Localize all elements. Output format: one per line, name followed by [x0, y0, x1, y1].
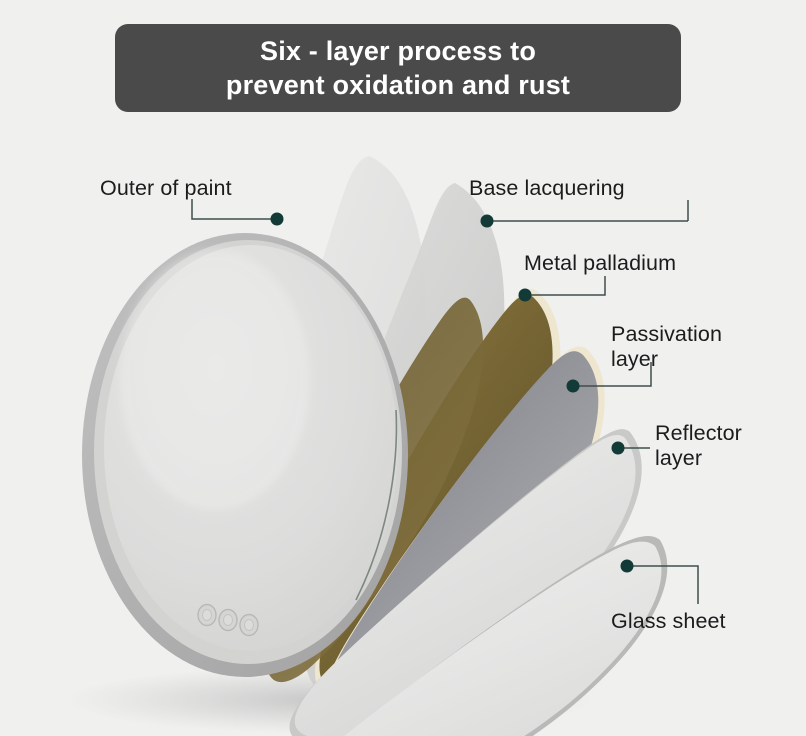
- leader-dot-glass-sheet: [621, 560, 634, 573]
- callout-label-outer-of-paint: Outer of paint: [100, 176, 232, 201]
- leader-dot-outer-of-paint: [271, 213, 284, 226]
- leader-base-lacquering: [481, 199, 689, 228]
- leader-outer-of-paint: [192, 199, 284, 226]
- led-mirror-panel: [82, 233, 408, 677]
- leader-dot-metal-palladium: [519, 289, 532, 302]
- leader-dot-passivation-layer: [567, 380, 580, 393]
- callout-label-glass-sheet: Glass sheet: [611, 609, 726, 634]
- callout-label-metal-palladium: Metal palladium: [524, 251, 676, 276]
- callout-label-reflector-layer: Reflector layer: [655, 421, 742, 470]
- leader-dot-base-lacquering: [481, 215, 494, 228]
- banner-title: Six - layer process to prevent oxidation…: [115, 24, 681, 112]
- callout-label-passivation-layer: Passivation layer: [611, 322, 722, 371]
- infographic-canvas: Six - layer process to prevent oxidation…: [0, 0, 806, 736]
- touch-button-2[interactable]: [219, 610, 237, 631]
- banner-title-text: Six - layer process to prevent oxidation…: [208, 34, 588, 102]
- touch-button-1[interactable]: [198, 605, 216, 626]
- touch-button-3[interactable]: [240, 615, 258, 636]
- callout-label-base-lacquering: Base lacquering: [469, 176, 625, 201]
- leader-dot-reflector-layer: [612, 442, 625, 455]
